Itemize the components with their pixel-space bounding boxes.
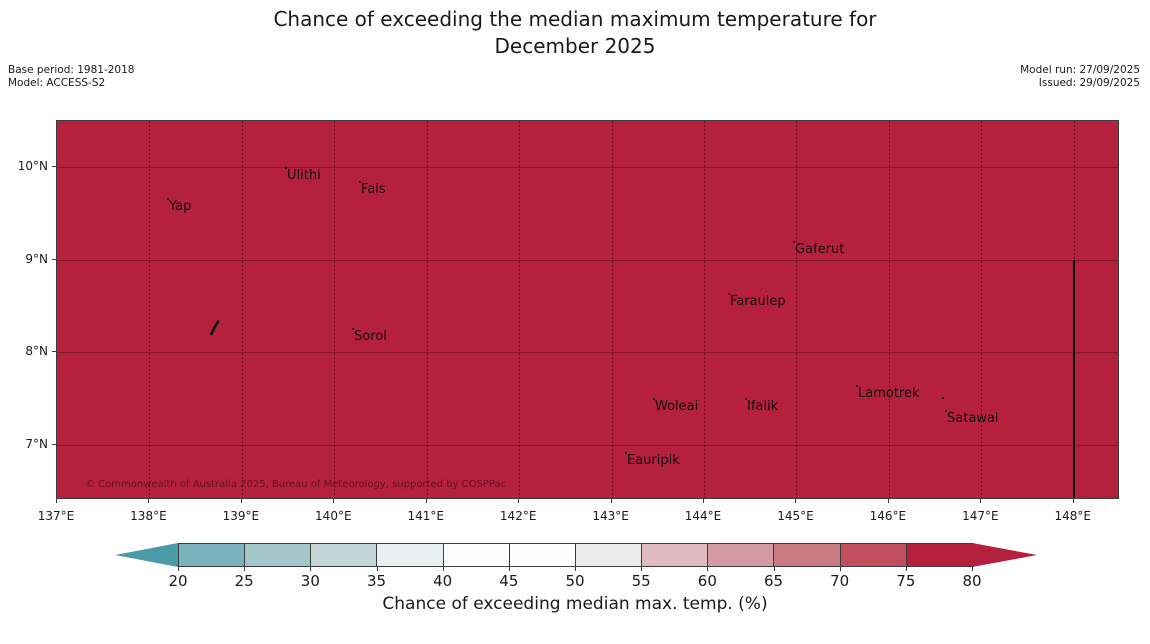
- colorbar-band-40-45[interactable]: [444, 544, 510, 566]
- gridline-lon-141: [427, 121, 428, 498]
- colorbar-band-55-60[interactable]: [642, 544, 708, 566]
- gridline-lon-143: [612, 121, 613, 498]
- colorbar-tick-label-20: 20: [168, 572, 187, 590]
- colorbar[interactable]: 20253035404550556065707580 Chance of exc…: [0, 540, 1150, 644]
- island-label-yap: Yap: [169, 199, 191, 214]
- colorbar-band-25-30[interactable]: [245, 544, 311, 566]
- x-tick-label-144°E: 144°E: [685, 509, 722, 523]
- gridline-lon-147: [981, 121, 982, 498]
- colorbar-band-65-70[interactable]: [774, 544, 840, 566]
- y-tick-mark: [52, 444, 56, 445]
- y-tick-label-8°N: 8°N: [0, 344, 48, 358]
- colorbar-tick-mark: [906, 566, 907, 571]
- colorbar-tick-label-55: 55: [632, 572, 651, 590]
- colorbar-tick-label-60: 60: [698, 572, 717, 590]
- x-tick-label-145°E: 145°E: [777, 509, 814, 523]
- colorbar-tick-label-40: 40: [433, 572, 452, 590]
- x-tick-mark: [148, 499, 149, 503]
- colorbar-tick-label-25: 25: [235, 572, 254, 590]
- y-tick-mark: [52, 259, 56, 260]
- island-label-eauripik: Eauripik: [627, 453, 680, 468]
- colorbar-band-45-50[interactable]: [510, 544, 576, 566]
- colorbar-tick-mark: [774, 566, 775, 571]
- island-label-gaferut: Gaferut: [795, 242, 844, 257]
- model-metadata: Base period: 1981-2018 Model: ACCESS-S2: [8, 64, 134, 90]
- colorbar-tick-mark: [641, 566, 642, 571]
- island-label-ifalik: Ifalik: [747, 399, 778, 414]
- x-tick-mark: [888, 499, 889, 503]
- base-period-label: Base period: 1981-2018: [8, 64, 134, 77]
- colorbar-under-arrow: [115, 543, 178, 567]
- x-tick-mark: [56, 499, 57, 503]
- colorbar-tick-label-30: 30: [301, 572, 320, 590]
- colorbar-over-arrow: [972, 543, 1037, 567]
- colorbar-tick-mark: [509, 566, 510, 571]
- colorbar-band-30-35[interactable]: [311, 544, 377, 566]
- colorbar-tick-label-45: 45: [499, 572, 518, 590]
- x-tick-mark: [980, 499, 981, 503]
- x-tick-label-141°E: 141°E: [407, 509, 444, 523]
- issued-label: Issued: 29/09/2025: [1020, 77, 1140, 90]
- x-tick-mark: [333, 499, 334, 503]
- x-tick-mark: [241, 499, 242, 503]
- x-tick-label-138°E: 138°E: [130, 509, 167, 523]
- x-tick-label-143°E: 143°E: [592, 509, 629, 523]
- page-title: Chance of exceeding the median maximum t…: [0, 6, 1150, 60]
- gridline-lat-9: [57, 260, 1118, 261]
- island-marker: [942, 397, 944, 399]
- colorbar-tick-mark: [377, 566, 378, 571]
- gridline-lat-8: [57, 352, 1118, 353]
- x-tick-mark: [703, 499, 704, 503]
- island-label-faraulep: Faraulep: [730, 294, 786, 309]
- map-plot-area[interactable]: YapUlithiFaisSorolGaferutFaraulepWoleaiI…: [56, 120, 1119, 499]
- gridline-lon-145: [796, 121, 797, 498]
- x-tick-label-140°E: 140°E: [315, 509, 352, 523]
- colorbar-band-20-25[interactable]: [179, 544, 245, 566]
- colorbar-tick-mark: [972, 566, 973, 571]
- model-label: Model: ACCESS-S2: [8, 77, 134, 90]
- x-tick-mark: [1073, 499, 1074, 503]
- x-tick-mark: [611, 499, 612, 503]
- gridline-lon-139: [242, 121, 243, 498]
- y-tick-mark: [52, 351, 56, 352]
- colorbar-tick-label-65: 65: [764, 572, 783, 590]
- model-run-label: Model run: 27/09/2025: [1020, 64, 1140, 77]
- gridline-lon-138: [149, 121, 150, 498]
- colorbar-tick-mark: [310, 566, 311, 571]
- y-tick-label-7°N: 7°N: [0, 437, 48, 451]
- yap-island-shape: [207, 318, 223, 336]
- island-label-fais: Fais: [361, 182, 386, 197]
- colorbar-tick-mark: [840, 566, 841, 571]
- meridian-line: [1073, 260, 1075, 499]
- colorbar-bands[interactable]: [178, 543, 974, 567]
- island-label-woleai: Woleai: [655, 399, 698, 414]
- y-tick-mark: [52, 166, 56, 167]
- colorbar-tick-label-70: 70: [830, 572, 849, 590]
- colorbar-tick-mark: [575, 566, 576, 571]
- gridline-lat-10: [57, 167, 1118, 168]
- colorbar-band-35-40[interactable]: [377, 544, 443, 566]
- colorbar-band-75-80[interactable]: [907, 544, 973, 566]
- x-tick-label-142°E: 142°E: [500, 509, 537, 523]
- colorbar-tick-mark: [443, 566, 444, 571]
- x-tick-label-137°E: 137°E: [38, 509, 75, 523]
- colorbar-title: Chance of exceeding median max. temp. (%…: [0, 594, 1150, 614]
- island-label-ulithi: Ulithi: [287, 168, 321, 183]
- x-tick-mark: [518, 499, 519, 503]
- colorbar-band-60-65[interactable]: [708, 544, 774, 566]
- x-tick-label-148°E: 148°E: [1055, 509, 1092, 523]
- island-label-sorol: Sorol: [354, 329, 387, 344]
- x-tick-label-147°E: 147°E: [962, 509, 999, 523]
- gridline-lat-7: [57, 445, 1118, 446]
- copyright-notice: © Commonwealth of Australia 2025, Bureau…: [85, 479, 506, 490]
- colorbar-tick-label-80: 80: [962, 572, 981, 590]
- colorbar-band-70-75[interactable]: [841, 544, 907, 566]
- colorbar-band-50-55[interactable]: [576, 544, 642, 566]
- colorbar-tick-mark: [178, 566, 179, 571]
- island-label-lamotrek: Lamotrek: [858, 386, 920, 401]
- gridline-lon-140: [334, 121, 335, 498]
- gridline-lon-144: [704, 121, 705, 498]
- colorbar-tick-label-35: 35: [367, 572, 386, 590]
- gridline-lon-142: [519, 121, 520, 498]
- x-tick-label-146°E: 146°E: [870, 509, 907, 523]
- island-label-satawal: Satawal: [947, 411, 999, 426]
- colorbar-tick-label-75: 75: [896, 572, 915, 590]
- y-tick-label-9°N: 9°N: [0, 252, 48, 266]
- x-tick-mark: [426, 499, 427, 503]
- y-tick-label-10°N: 10°N: [0, 159, 48, 173]
- colorbar-tick-mark: [707, 566, 708, 571]
- run-metadata: Model run: 27/09/2025 Issued: 29/09/2025: [1020, 64, 1140, 90]
- x-tick-mark: [795, 499, 796, 503]
- gridline-lon-146: [889, 121, 890, 498]
- x-tick-label-139°E: 139°E: [223, 509, 260, 523]
- colorbar-tick-mark: [244, 566, 245, 571]
- colorbar-tick-label-50: 50: [565, 572, 584, 590]
